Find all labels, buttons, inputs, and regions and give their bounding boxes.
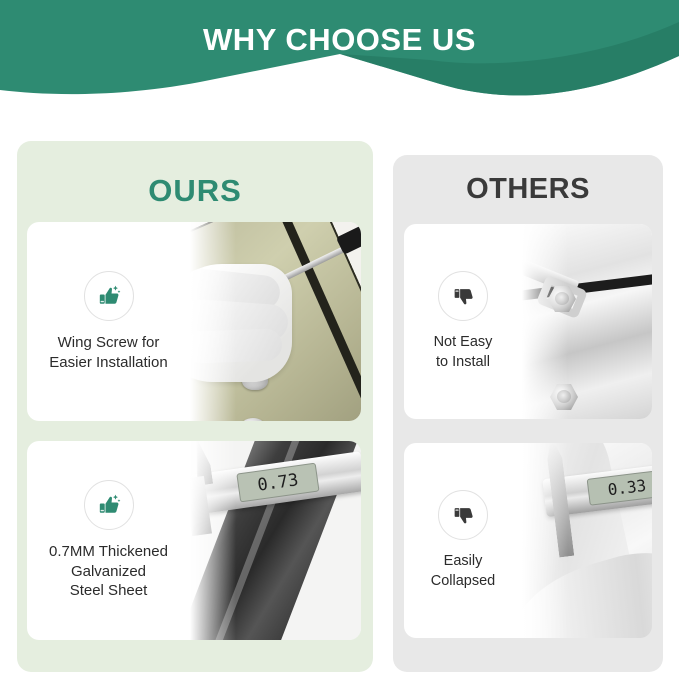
ours-card-2[interactable]: 0.7MM Thickened Galvanized Steel Sheet 0… [27, 441, 361, 640]
others-card-1-label: Not Easy to Install [434, 333, 493, 371]
caliper-display: 0.33 [587, 469, 652, 505]
thumbs-down-icon [438, 271, 488, 321]
page-title: WHY CHOOSE US [0, 22, 679, 58]
ours-card-1-text-column: Wing Screw for Easier Installation [27, 222, 190, 421]
ours-heading: OURS [17, 173, 373, 209]
others-card-1-text-column: Not Easy to Install [404, 224, 522, 419]
others-card-2-text-column: Easily Collapsed [404, 443, 522, 638]
wing-screw-install-photo [190, 222, 361, 421]
thumbs-up-icon [84, 271, 134, 321]
thumbs-down-glyph [450, 502, 477, 529]
thumbs-up-icon [84, 480, 134, 530]
others-card-2[interactable]: Easily Collapsed 0.33 [404, 443, 652, 638]
caliper-display: 0.73 [236, 463, 319, 503]
ours-card-1-label: Wing Screw for Easier Installation [49, 333, 167, 373]
caliper-steel-photo: 0.73 [190, 441, 361, 640]
caliper-white-panel-photo: 0.33 [522, 443, 652, 638]
thumbs-down-icon [438, 490, 488, 540]
header-banner: WHY CHOOSE US [0, 0, 679, 108]
thumbs-down-glyph [450, 283, 477, 310]
others-heading: OTHERS [393, 173, 663, 206]
thumbs-up-glyph [95, 282, 123, 310]
ours-card-1[interactable]: Wing Screw for Easier Installation [27, 222, 361, 421]
hex-bolt-center [555, 292, 569, 305]
ours-card-2-label: 0.7MM Thickened Galvanized Steel Sheet [49, 542, 168, 601]
glove-finger [190, 328, 283, 363]
wrench-bolts-photo [522, 224, 652, 419]
others-card-1[interactable]: Not Easy to Install [404, 224, 652, 419]
caliper-reading: 0.73 [256, 470, 299, 496]
caliper-reading: 0.33 [607, 476, 648, 500]
ours-card-2-text-column: 0.7MM Thickened Galvanized Steel Sheet [27, 441, 190, 640]
thumbs-up-glyph [95, 491, 123, 519]
hex-bolt-center [557, 390, 571, 403]
others-card-2-label: Easily Collapsed [431, 552, 496, 590]
